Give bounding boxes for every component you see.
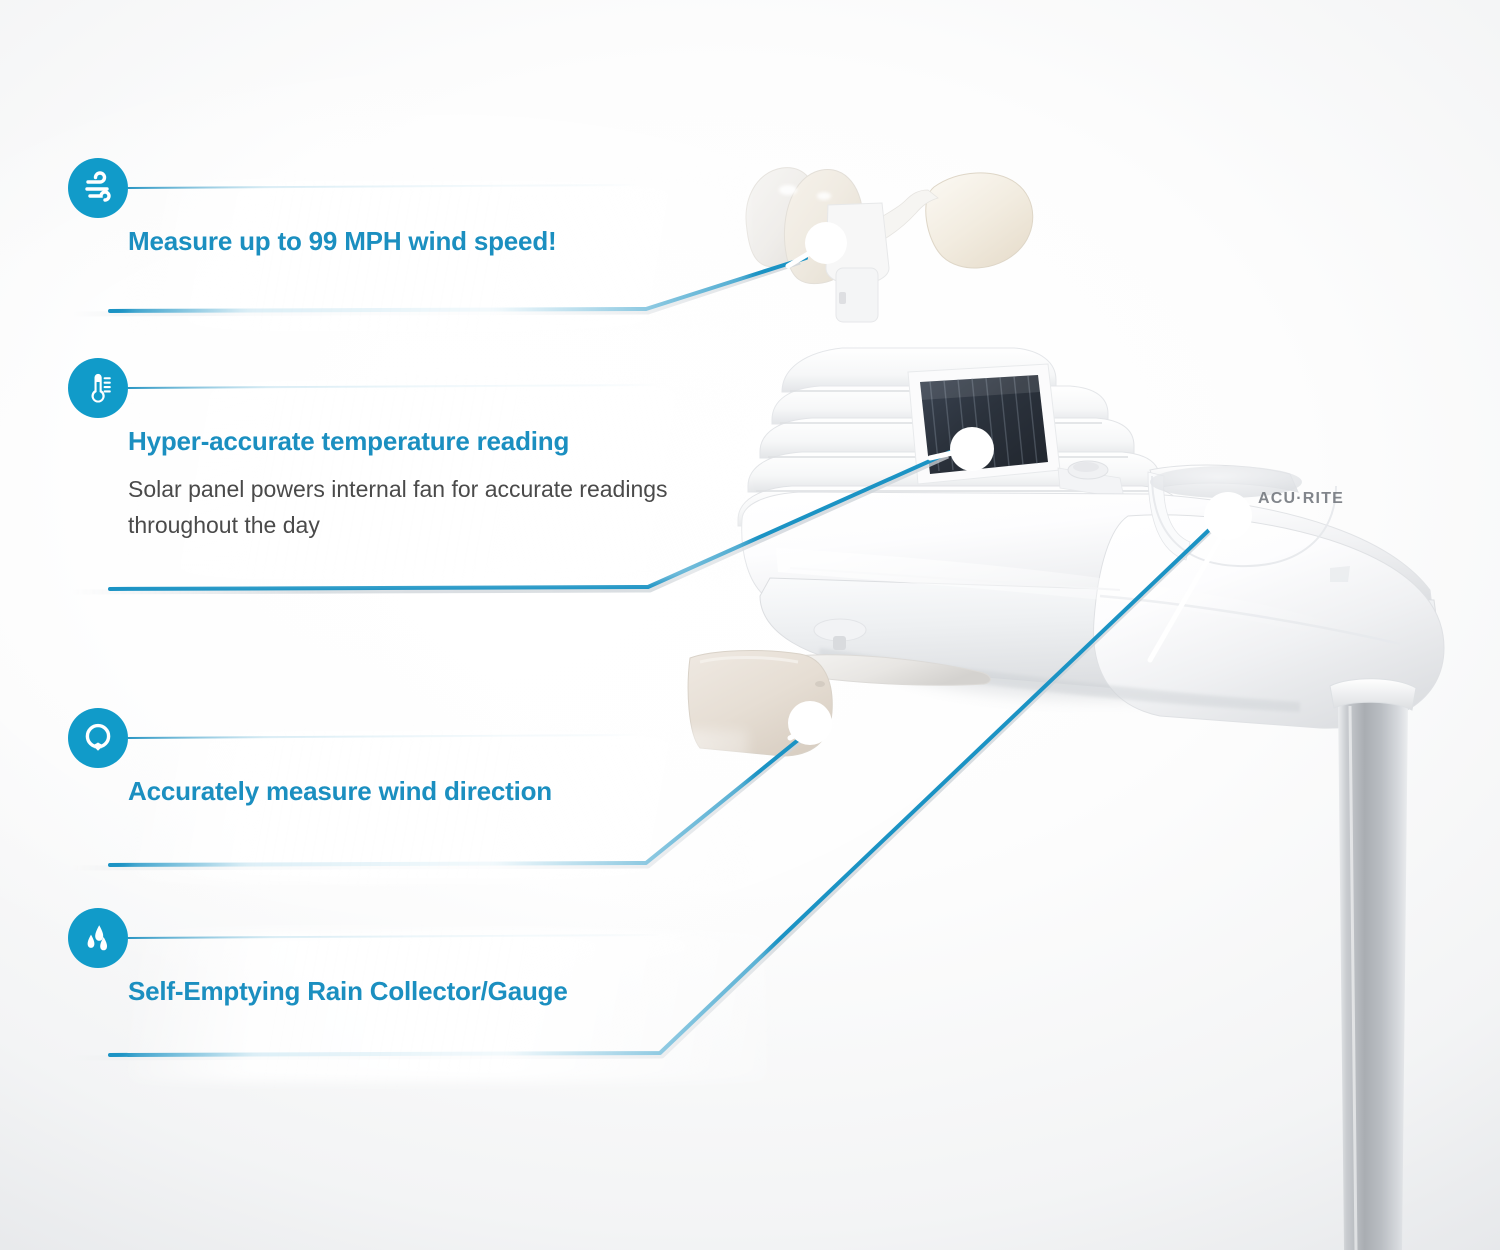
feature-text-wind-direction: Accurately measure wind direction: [128, 776, 552, 807]
feature-block-wind-direction: Accurately measure wind direction: [68, 708, 768, 878]
infographic-stage: ACU·RITE: [0, 0, 1500, 1250]
feature-text-rain-gauge: Self-Emptying Rain Collector/Gauge: [128, 976, 568, 1007]
feature-title: Hyper-accurate temperature reading: [128, 426, 708, 457]
feature-text-wind-speed: Measure up to 99 MPH wind speed!: [128, 226, 556, 257]
callout-dot-rain-gauge[interactable]: [1204, 492, 1252, 540]
callout-dots: [788, 222, 1252, 745]
feature-block-wind-speed: Measure up to 99 MPH wind speed!: [68, 158, 768, 328]
feature-block-temperature: Hyper-accurate temperature reading Solar…: [68, 358, 768, 588]
wind-icon: [68, 158, 128, 218]
raindrops-icon: [68, 908, 128, 968]
callout-dot-wind-speed[interactable]: [805, 222, 847, 264]
feature-subtitle: Solar panel powers internal fan for accu…: [128, 471, 708, 544]
wind-vane-icon: [68, 708, 128, 768]
callout-dot-temperature[interactable]: [950, 427, 994, 471]
feature-title: Measure up to 99 MPH wind speed!: [128, 226, 556, 257]
feature-text-temperature: Hyper-accurate temperature reading Solar…: [128, 426, 708, 544]
feature-block-rain-gauge: Self-Emptying Rain Collector/Gauge: [68, 908, 788, 1078]
callout-dot-wind-direction[interactable]: [788, 701, 832, 745]
thermometer-icon: [68, 358, 128, 418]
feature-title: Accurately measure wind direction: [128, 776, 552, 807]
feature-title: Self-Emptying Rain Collector/Gauge: [128, 976, 568, 1007]
